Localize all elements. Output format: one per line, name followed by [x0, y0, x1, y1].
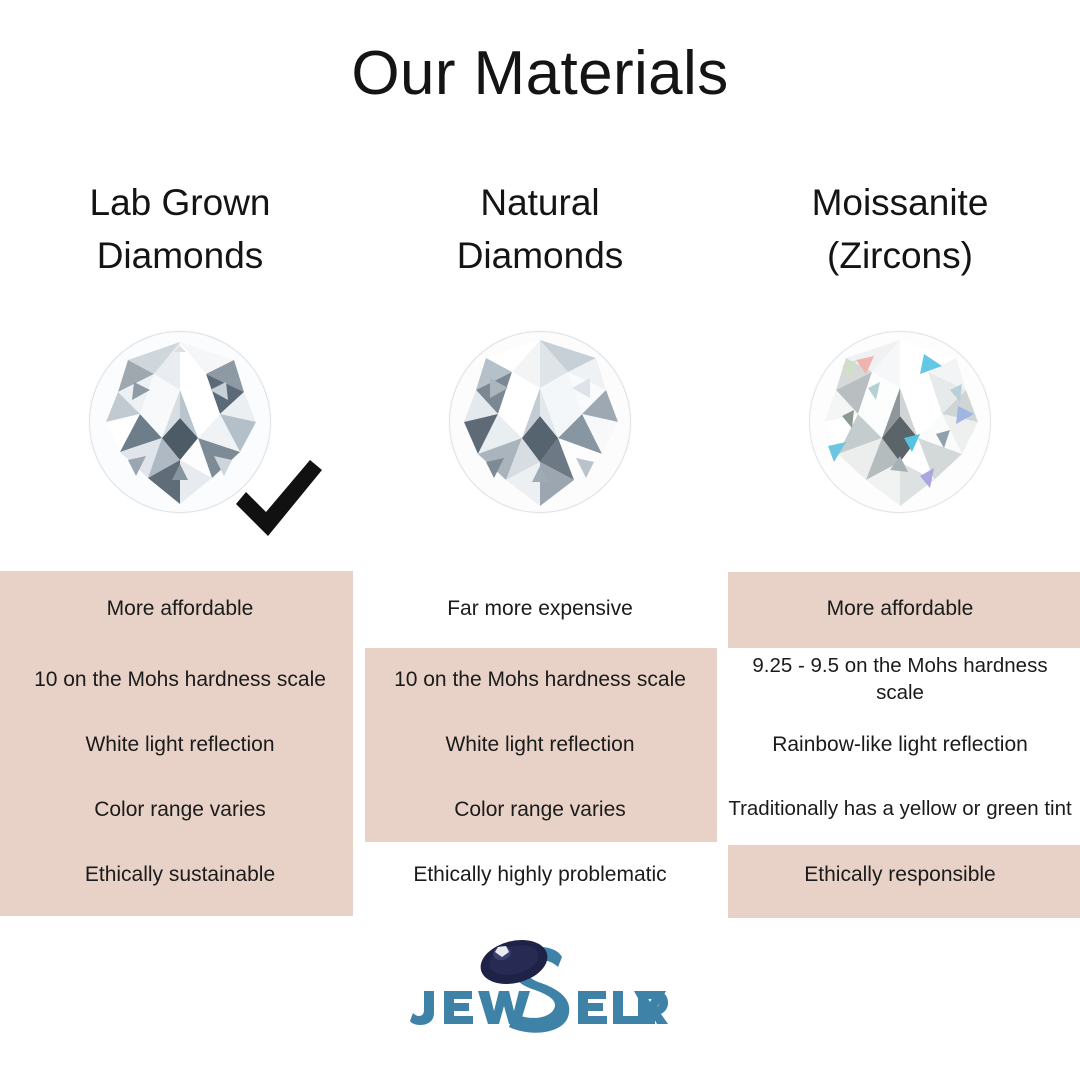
round-brilliant-moissanite-icon [808, 330, 992, 514]
cell-price-lab-grown: More affordable [0, 595, 360, 622]
comparison-table: More affordable Far more expensive More … [0, 571, 1080, 907]
gem-images-row [0, 330, 1080, 514]
cell-color-natural: Color range varies [360, 796, 720, 823]
table-row: Ethically sustainable Ethically highly p… [0, 842, 1080, 907]
table-row: More affordable Far more expensive More … [0, 571, 1080, 647]
logo-text-right [578, 991, 668, 1024]
cell-hardness-moissanite: 9.25 - 9.5 on the Mohs hardness scale [720, 653, 1080, 706]
cell-ethics-lab-grown: Ethically sustainable [0, 861, 360, 888]
column-header-natural-diamonds: Natural Diamonds [360, 176, 720, 283]
table-row: 10 on the Mohs hardness scale 10 on the … [0, 647, 1080, 712]
column-headers: Lab Grown Diamonds Natural Diamonds Mois… [0, 176, 1080, 283]
page-title: Our Materials [0, 38, 1080, 109]
brand-logo [0, 935, 1080, 1035]
check-icon [230, 452, 326, 548]
cell-light-reflection-lab-grown: White light reflection [0, 731, 360, 758]
gem-cell-moissanite [720, 330, 1080, 514]
gem-cell-natural [360, 330, 720, 514]
table-row: White light reflection White light refle… [0, 712, 1080, 777]
cell-hardness-lab-grown: 10 on the Mohs hardness scale [0, 666, 360, 693]
cell-ethics-natural: Ethically highly problematic [360, 861, 720, 888]
infographic-page: Our Materials Lab Grown Diamonds Natural… [0, 0, 1080, 1080]
column-header-lab-grown-diamonds: Lab Grown Diamonds [0, 176, 360, 283]
ring-with-gem-icon [476, 935, 552, 991]
cell-color-lab-grown: Color range varies [0, 796, 360, 823]
cell-light-reflection-natural: White light reflection [360, 731, 720, 758]
round-brilliant-diamond-icon-natural [448, 330, 632, 514]
cell-light-reflection-moissanite: Rainbow-like light reflection [720, 731, 1080, 758]
highlight-bands [0, 0, 1080, 1080]
logo-text-left [410, 991, 530, 1025]
table-row: Color range varies Color range varies Tr… [0, 777, 1080, 842]
cell-price-natural: Far more expensive [360, 595, 720, 622]
gem-cell-lab-grown [0, 330, 360, 514]
cell-color-moissanite: Traditionally has a yellow or green tint [720, 796, 1080, 823]
column-header-moissanite-zircons: Moissanite (Zircons) [720, 176, 1080, 283]
cell-hardness-natural: 10 on the Mohs hardness scale [360, 666, 720, 693]
cell-ethics-moissanite: Ethically responsible [720, 861, 1080, 888]
cell-price-moissanite: More affordable [720, 595, 1080, 622]
